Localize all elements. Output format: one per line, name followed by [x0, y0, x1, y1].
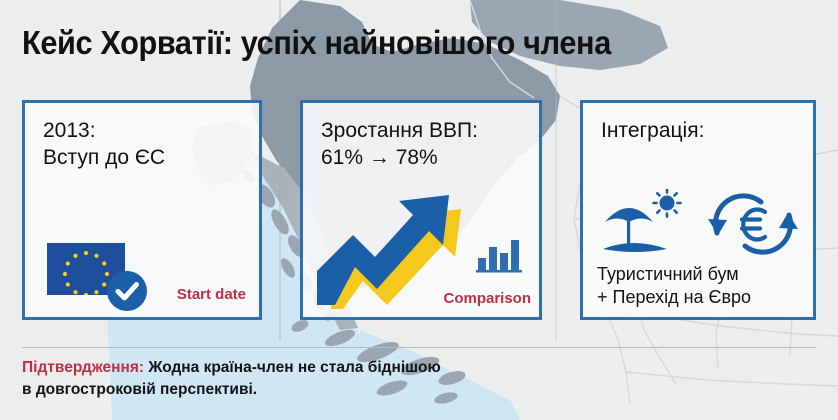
check-mark — [107, 271, 147, 311]
card-gdp-growth-tagline: Comparison — [443, 290, 531, 307]
check-badge-icon — [107, 271, 147, 311]
bar-chart-icon — [475, 235, 525, 273]
footer-note: Підтвердження: Жодна країна-член не стал… — [22, 357, 822, 402]
card-gdp-growth[interactable]: Зростання ВВП: 61% → 78% Comparison — [300, 100, 542, 320]
card-eu-accession-title: 2013: Вступ до ЄС — [43, 117, 165, 172]
euro-symbol — [742, 210, 765, 240]
beach-umbrella-sun-icon — [603, 190, 681, 253]
card-integration[interactable]: Інтеграція: — [580, 100, 816, 320]
integration-icons — [595, 189, 805, 259]
card-integration-caption: Туристичний бум + Перехід на Євро — [597, 263, 805, 309]
page-title: Кейс Хорватії: успіх найновішого члена — [22, 24, 611, 62]
footer-text-line2: в довгостроковій перспективі. — [22, 379, 822, 401]
euro-exchange-icon — [715, 196, 790, 252]
footer-text-line1: Жодна країна-член не стала біднішою — [144, 359, 441, 376]
card-gdp-growth-title: Зростання ВВП: 61% → 78% — [321, 117, 478, 172]
card-eu-accession-tagline: Start date — [177, 286, 246, 303]
footer-divider — [22, 347, 816, 348]
card-integration-title: Інтеграція: — [601, 117, 704, 144]
infographic-canvas: Кейс Хорватії: успіх найновішого члена 2… — [0, 0, 838, 420]
footer-label: Підтвердження: — [22, 359, 144, 376]
card-eu-accession[interactable]: 2013: Вступ до ЄС — [22, 100, 262, 320]
euro-arrow-heads — [708, 213, 798, 235]
